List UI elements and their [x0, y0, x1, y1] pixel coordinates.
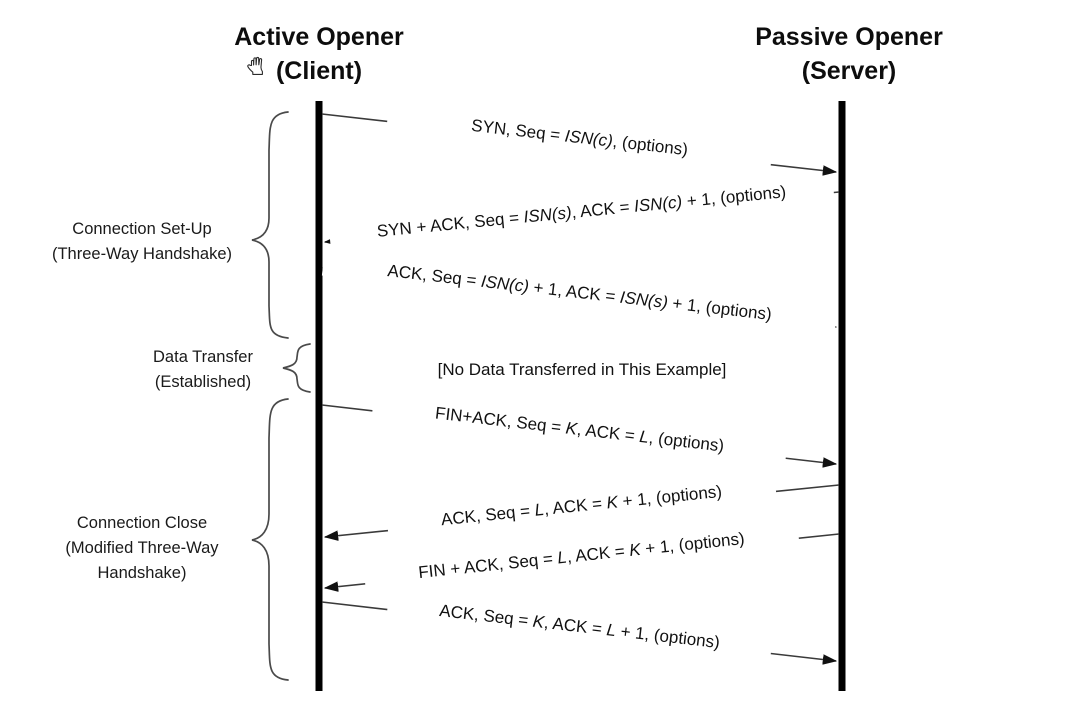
left-header-line2: (Client) [276, 57, 362, 85]
brace-data-transfer [283, 344, 310, 392]
phase-label-connection-close: Connection Close (Modified Three-Way Han… [65, 514, 219, 582]
message-syn-ack-label: SYN + ACK, Seq = ISN(s), ACK = ISN(c) + … [376, 182, 787, 241]
message-ack: ACK, Seq = ISN(c) + 1, ACK = ISN(s) + 1,… [322, 254, 837, 335]
message-ack-label: ACK, Seq = ISN(c) + 1, ACK = ISN(s) + 1,… [387, 261, 773, 324]
left-header-line1: Active Opener [234, 23, 404, 51]
message-syn: SYN, Seq = ISN(c), (options) [322, 106, 836, 172]
phase-close-line3: Handshake) [98, 564, 187, 582]
header-right: Passive Opener (Server) [755, 23, 943, 85]
message-syn-label: SYN, Seq = ISN(c), (options) [470, 116, 689, 159]
phase-close-line1: Connection Close [77, 514, 207, 532]
phase-close-line2: (Modified Three-Way [65, 539, 219, 557]
phase-setup-line1: Connection Set-Up [72, 220, 211, 238]
message-ack-close-2: ACK, Seq = K, ACK = L + 1, (options) [322, 595, 836, 661]
no-data-note: [No Data Transferred in This Example] [438, 360, 727, 379]
phase-label-connection-setup: Connection Set-Up (Three-Way Handshake) [52, 220, 232, 263]
right-header-line1: Passive Opener [755, 23, 943, 51]
message-fin-ack-1: FIN+ACK, Seq = K, ACK = L, (options) [322, 396, 836, 465]
right-header-line2: (Server) [802, 57, 897, 85]
header-left: Active Opener (Client) [234, 23, 404, 85]
brace-connection-setup [252, 112, 288, 338]
tcp-sequence-diagram: Active Opener (Client) Passive Opener (S… [0, 0, 1080, 702]
message-syn-ack: SYN + ACK, Seq = ISN(s), ACK = ISN(c) + … [325, 178, 839, 249]
phase-label-data-transfer: Data Transfer (Established) [153, 348, 253, 391]
phase-setup-line2: (Three-Way Handshake) [52, 245, 232, 263]
phase-data-line1: Data Transfer [153, 348, 253, 366]
diagram-canvas: Active Opener (Client) Passive Opener (S… [0, 0, 1080, 702]
phase-data-line2: (Established) [155, 373, 251, 391]
brace-connection-close [252, 399, 288, 680]
